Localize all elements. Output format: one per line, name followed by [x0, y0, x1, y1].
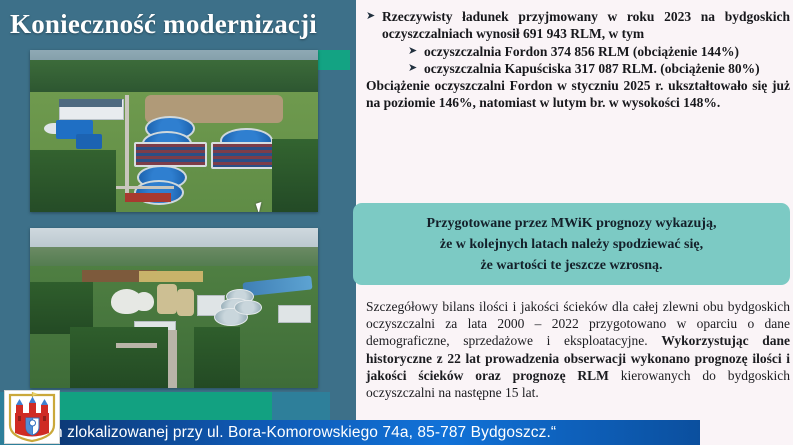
photo2-parking [116, 343, 156, 348]
photo2-trees-left [30, 282, 93, 333]
bullet-level2-group: ➤ oczyszczalnia Fordon 374 856 RLM (obci… [366, 43, 790, 77]
aerial-photo-kapusciska [30, 228, 318, 388]
photo-aeration-basin-left [134, 142, 207, 167]
arrow-bullet-icon: ➤ [366, 8, 382, 42]
photo-building-roof [59, 99, 122, 107]
photo2-path [168, 330, 177, 388]
photo-blue-tank-2 [76, 134, 102, 149]
slide-root: Konieczność modernizacji [0, 0, 793, 445]
photo2-trees-right [194, 327, 240, 388]
caption-bar: n zlokalizowanej przy ul. Bora-Komorowsk… [60, 420, 700, 445]
photo-trees-left [30, 150, 116, 212]
forecast-callout-text: Przygotowane przez MWiK prognozy wykazuj… [427, 213, 717, 276]
coat-of-arms-svg [5, 391, 59, 443]
callout-line-3: że wartości te jeszcze wzrosną. [427, 255, 717, 276]
footer-green-bar [60, 392, 272, 420]
bullets-closing-paragraph: Obciążenie oczyszczalni Fordon w styczni… [366, 77, 790, 111]
photo2-silo-2 [177, 289, 194, 316]
right-panel: ➤ Rzeczywisty ładunek przyjmowany w roku… [358, 0, 793, 445]
photo2-trees-center [70, 327, 168, 388]
bullet-level1-text: Rzeczywisty ładunek przyjmowany w roku 2… [382, 8, 790, 42]
left-panel: Konieczność modernizacji [0, 0, 356, 445]
callout-line-2: że w kolejnych latach należy spodziewać … [427, 234, 717, 255]
photo2-yellow-field [139, 271, 202, 282]
aerial-photo-fordon [30, 50, 318, 212]
arrow-bullet-icon: ➤ [408, 60, 424, 77]
caption-text: n zlokalizowanej przy ul. Bora-Komorowsk… [60, 424, 556, 442]
bullet-list: ➤ Rzeczywisty ładunek przyjmowany w roku… [366, 8, 790, 111]
forecast-callout-box: Przygotowane przez MWiK prognozy wykazuj… [353, 203, 790, 285]
bullet-level2-text-fordon: oczyszczalnia Fordon 374 856 RLM (obciąż… [424, 43, 790, 60]
callout-line-1: Przygotowane przez MWiK prognozy wykazuj… [427, 213, 717, 234]
page-title: Konieczność modernizacji [10, 8, 350, 40]
bullet-level2-text-kapusciska: oczyszczalnia Kapuściska 317 087 RLM. (o… [424, 60, 790, 77]
photo2-tank-4 [234, 300, 262, 315]
photo2-building-3 [278, 305, 312, 323]
photo-red-roof-building [125, 193, 171, 203]
footer-blue-bar [272, 392, 330, 420]
photo2-silo-1 [157, 284, 177, 314]
lower-paragraph: Szczegółowy bilans ilości i jakości ście… [366, 298, 790, 401]
photo-trees-right [272, 139, 318, 212]
arrow-bullet-icon: ➤ [408, 43, 424, 60]
photo-treeline [30, 60, 318, 96]
photo2-digester-dome-2 [134, 292, 154, 311]
bullet-level2-item: ➤ oczyszczalnia Fordon 374 856 RLM (obci… [408, 43, 790, 60]
bullet-level2-item: ➤ oczyszczalnia Kapuściska 317 087 RLM. … [408, 60, 790, 77]
bullet-level1-item: ➤ Rzeczywisty ładunek przyjmowany w roku… [366, 8, 790, 42]
bydgoszcz-coat-of-arms [4, 390, 60, 444]
